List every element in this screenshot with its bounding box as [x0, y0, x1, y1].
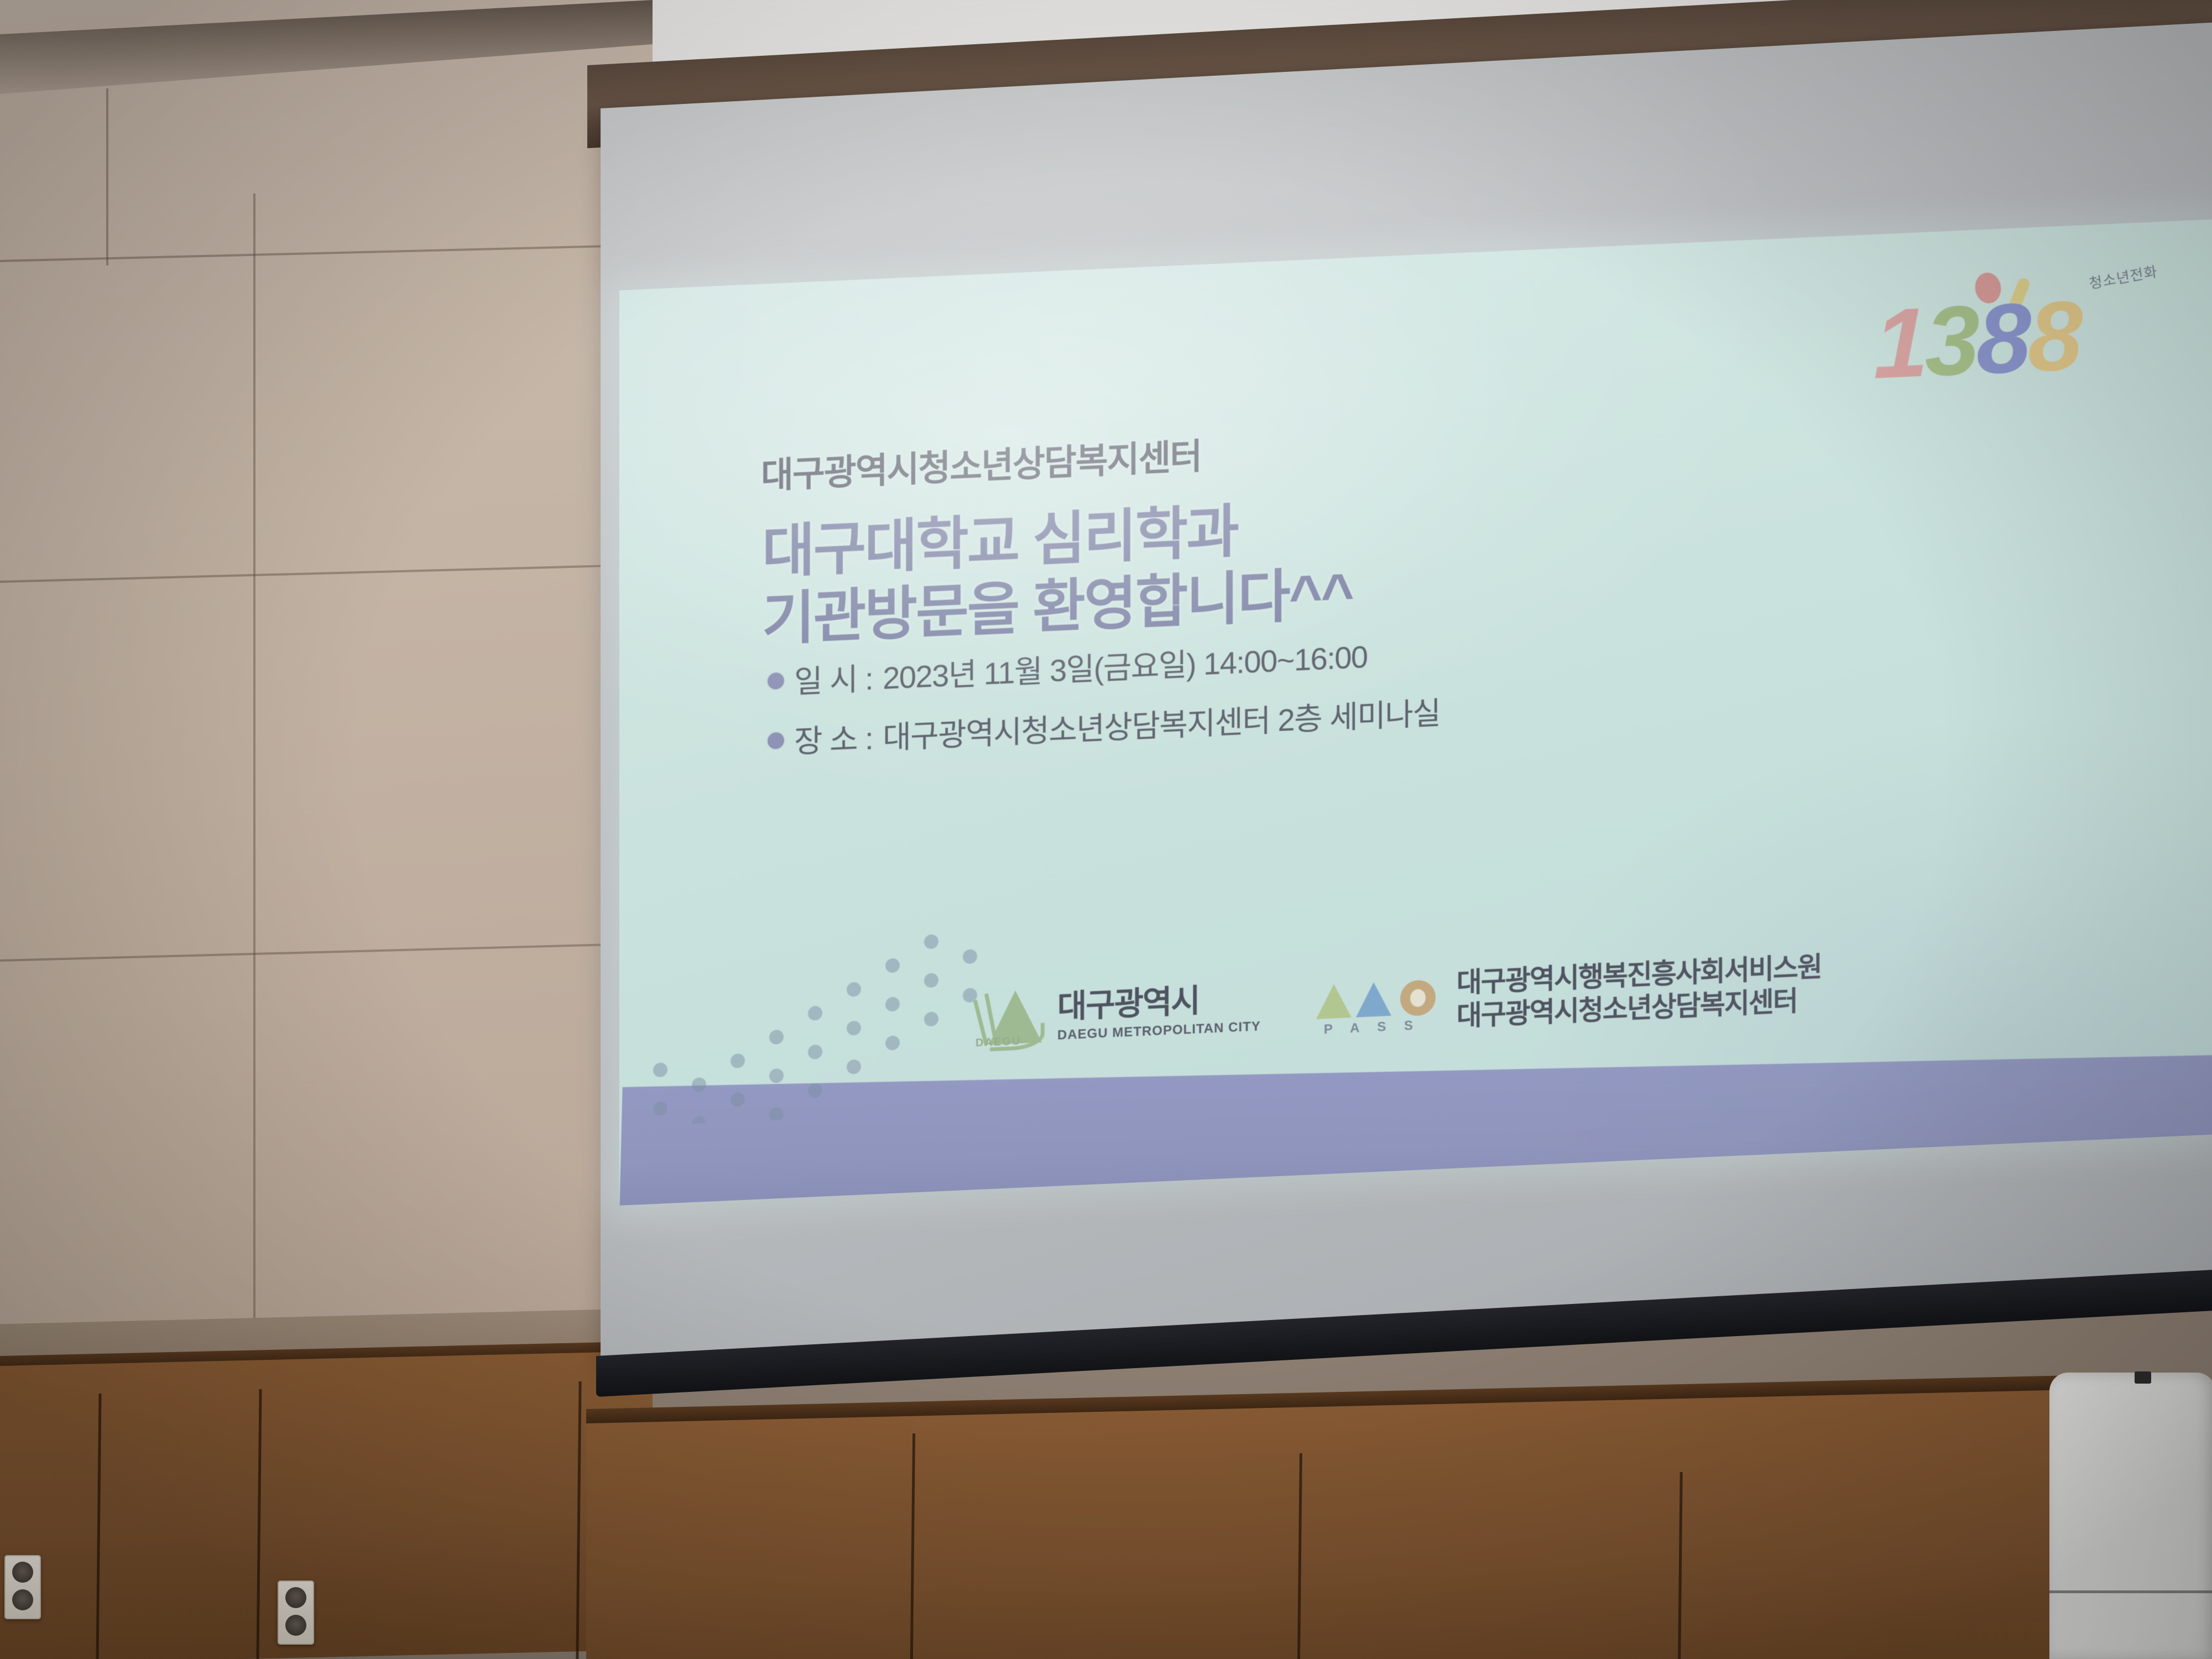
wall-panel-left: [0, 0, 653, 1416]
pass-logo-text: 대구광역시행복진흥사회서비스원 대구광역시청소년상담복지센터: [1457, 953, 1822, 1030]
slide-canvas: 청소년전화 1388 대구광역시청소년상담복지센터 대구대학교 심리학과 기관방…: [619, 220, 2212, 1206]
logo-digit-8-blue: 8: [1976, 283, 2028, 395]
bullet-dot-icon: [768, 672, 784, 689]
white-floor-unit: [2049, 1373, 2212, 1659]
power-outlet: [278, 1580, 314, 1645]
pass-circle-icon: [1400, 979, 1436, 1016]
photo-scene: 청소년전화 1388 대구광역시청소년상담복지센터 대구대학교 심리학과 기관방…: [0, 0, 2212, 1659]
pass-chevron-green: [1316, 983, 1352, 1019]
wainscot-panel-right: [586, 1386, 2057, 1659]
slide-footer-logos: DAEGU 대구광역시 DAEGU METROPOLITAN CITY P A …: [973, 951, 1822, 1053]
logo-1388-digits: 1388: [1874, 286, 2079, 394]
detail-label-datetime: 일 시 :: [794, 654, 873, 702]
appliance-top-notch: [2135, 1371, 2151, 1384]
logo-1388: 청소년전화 1388: [1874, 262, 2161, 407]
wall-seam-vertical: [106, 88, 108, 265]
daegu-logo-text: 대구광역시 DAEGU METROPOLITAN CITY: [1057, 982, 1261, 1043]
logo-1388-tagline: 청소년전화: [2088, 260, 2159, 293]
logo-digit-3: 3: [1925, 285, 1976, 397]
pass-mark-word: P A S S: [1324, 1018, 1420, 1038]
daegu-mountain-icon: DAEGU: [973, 986, 1045, 1053]
logo-digit-8-yellow: 8: [2028, 280, 2079, 392]
daegu-name-ko: 대구광역시: [1057, 982, 1261, 1023]
wall-seam-vertical: [253, 194, 255, 1366]
decorative-dot-pattern: [638, 879, 981, 1126]
daegu-mark-word: DAEGU: [975, 1035, 1021, 1050]
slide-detail-location: 장 소 : 대구광역시청소년상담복지센터 2층 세미나실: [768, 688, 1440, 763]
logo-digit-1: 1: [1874, 287, 1925, 399]
projected-slide[interactable]: 청소년전화 1388 대구광역시청소년상담복지센터 대구대학교 심리학과 기관방…: [619, 220, 2212, 1206]
logo-daegu-city: DAEGU 대구광역시 DAEGU METROPOLITAN CITY: [973, 976, 1261, 1053]
appliance-seam: [2049, 1590, 2212, 1593]
pass-chevron-icon: P A S S: [1314, 968, 1444, 1039]
logo-pass-center: P A S S 대구광역시행복진흥사회서비스원 대구광역시청소년상담복지센터: [1314, 951, 1822, 1038]
detail-value-location: 대구광역시청소년상담복지센터 2층 세미나실: [883, 688, 1440, 758]
bullet-dot-icon: [768, 732, 784, 749]
detail-label-location: 장 소 :: [794, 714, 873, 762]
power-outlet: [4, 1555, 41, 1619]
pass-chevron-blue: [1356, 982, 1391, 1018]
